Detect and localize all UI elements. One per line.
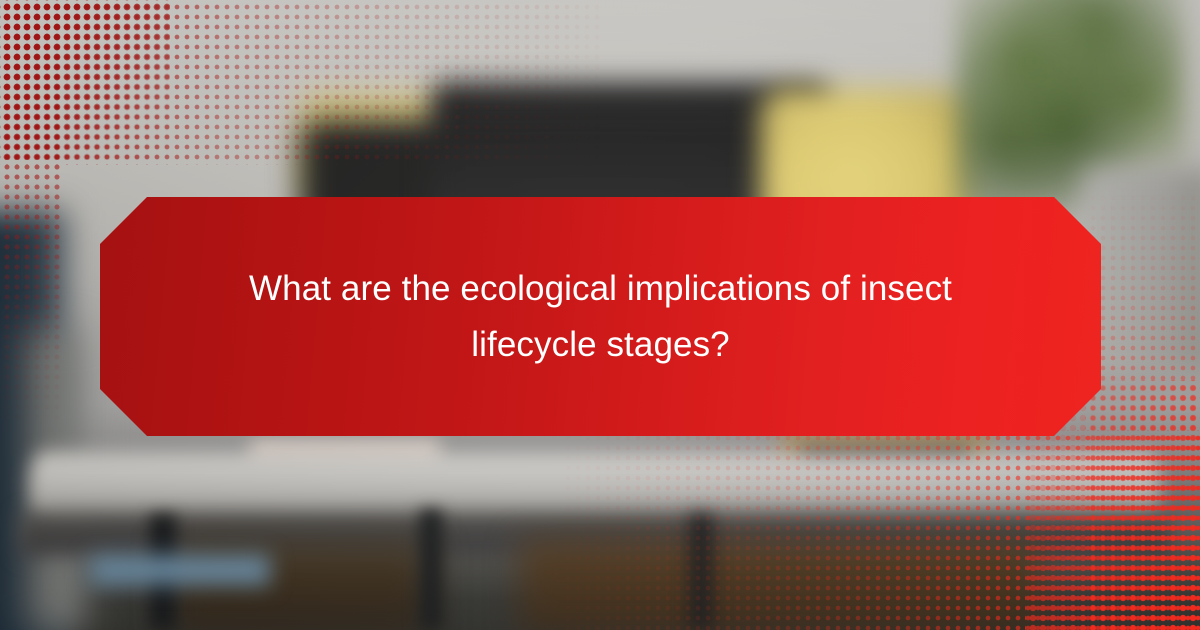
share-card-canvas: What are the ecological implications of …: [0, 0, 1200, 630]
question-text: What are the ecological implications of …: [141, 261, 1061, 373]
question-banner: What are the ecological implications of …: [100, 197, 1101, 436]
